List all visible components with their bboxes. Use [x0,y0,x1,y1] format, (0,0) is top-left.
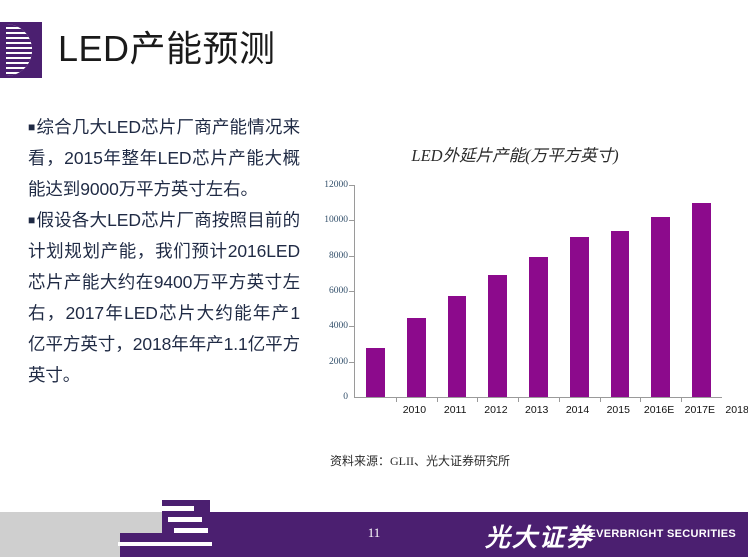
bullet-marker-icon: ■ [28,213,35,227]
y-axis-tick-mark [349,326,354,327]
bullet-paragraph-1-text: 综合几大LED芯片厂商产能情况来看，2015年整年LED芯片产能大概能达到900… [28,117,300,199]
y-axis-tick-label: 2000 [329,357,348,367]
y-axis-tick-mark [349,291,354,292]
brand-logo-chinese: 光大证券 [485,518,593,554]
y-axis-tick-mark [349,185,354,186]
body-text-block: ■综合几大LED芯片厂商产能情况来看，2015年整年LED芯片产能大概能达到90… [28,112,300,391]
x-axis-tick-label: 2010 [403,404,426,416]
bar [611,231,630,397]
x-axis-tick-label: 2014 [566,404,589,416]
x-axis-tick-mark [518,398,519,402]
x-axis-tick-label: 2016E [644,404,674,416]
y-axis-tick-label: 0 [343,392,348,402]
y-axis-tick-label: 12000 [324,180,348,190]
y-axis-tick-mark [349,220,354,221]
x-axis-tick-label: 2018E [725,404,748,416]
y-axis-tick-label: 8000 [329,251,348,261]
bar [366,348,385,397]
y-axis-tick-mark [349,256,354,257]
x-axis-tick-label: 2015 [607,404,630,416]
bullet-paragraph-2-text: 假设各大LED芯片厂商按照目前的计划规划产能，我们预计2016LED芯片产能大约… [28,210,300,385]
x-axis-tick-label: 2017E [685,404,715,416]
bullet-paragraph-2: ■假设各大LED芯片厂商按照目前的计划规划产能，我们预计2016LED芯片产能大… [28,205,300,391]
chart-plot-area: 020004000600080001000012000 201020112012… [316,185,724,410]
x-axis-tick-label: 2013 [525,404,548,416]
x-axis-tick-mark [559,398,560,402]
bar [407,318,426,397]
brand-logo-english: EVERBRIGHT SECURITIES [589,528,736,540]
bar [692,203,711,397]
page-title: LED产能预测 [58,20,276,72]
bullet-marker-icon: ■ [28,120,35,134]
x-axis-tick-mark [477,398,478,402]
bar [570,237,589,397]
chart-title: LED外延片产能(万平方英寸) [300,142,730,166]
x-axis-tick-label: 2011 [444,404,467,416]
bar [529,257,548,397]
y-axis-labels: 020004000600080001000012000 [316,185,352,397]
x-axis-line [354,397,722,398]
chart-panel: LED外延片产能(万平方英寸) 020004000600080001000012… [300,130,730,480]
y-axis-tick-label: 6000 [329,286,348,296]
bar [488,275,507,397]
y-axis-tick-label: 4000 [329,321,348,331]
chart-source-note: 资料来源：GLII、光大证券研究所 [330,452,510,469]
slide-footer: 11 光大证券 EVERBRIGHT SECURITIES [0,512,748,557]
bullet-paragraph-1: ■综合几大LED芯片厂商产能情况来看，2015年整年LED芯片产能大概能达到90… [28,112,300,205]
x-axis-tick-label: 2012 [484,404,507,416]
x-axis-labels: 2010201120122013201420152016E2017E2018E [355,404,722,422]
bar-series [355,185,722,397]
x-axis-tick-mark [600,398,601,402]
x-axis-tick-mark [681,398,682,402]
y-axis-tick-label: 10000 [324,215,348,225]
y-axis-tick-mark [349,362,354,363]
bar [651,217,670,397]
x-axis-tick-mark [640,398,641,402]
bar [448,296,467,397]
x-axis-tick-mark [396,398,397,402]
slide-header: LED产能预测 [0,0,748,90]
x-axis-tick-mark [437,398,438,402]
